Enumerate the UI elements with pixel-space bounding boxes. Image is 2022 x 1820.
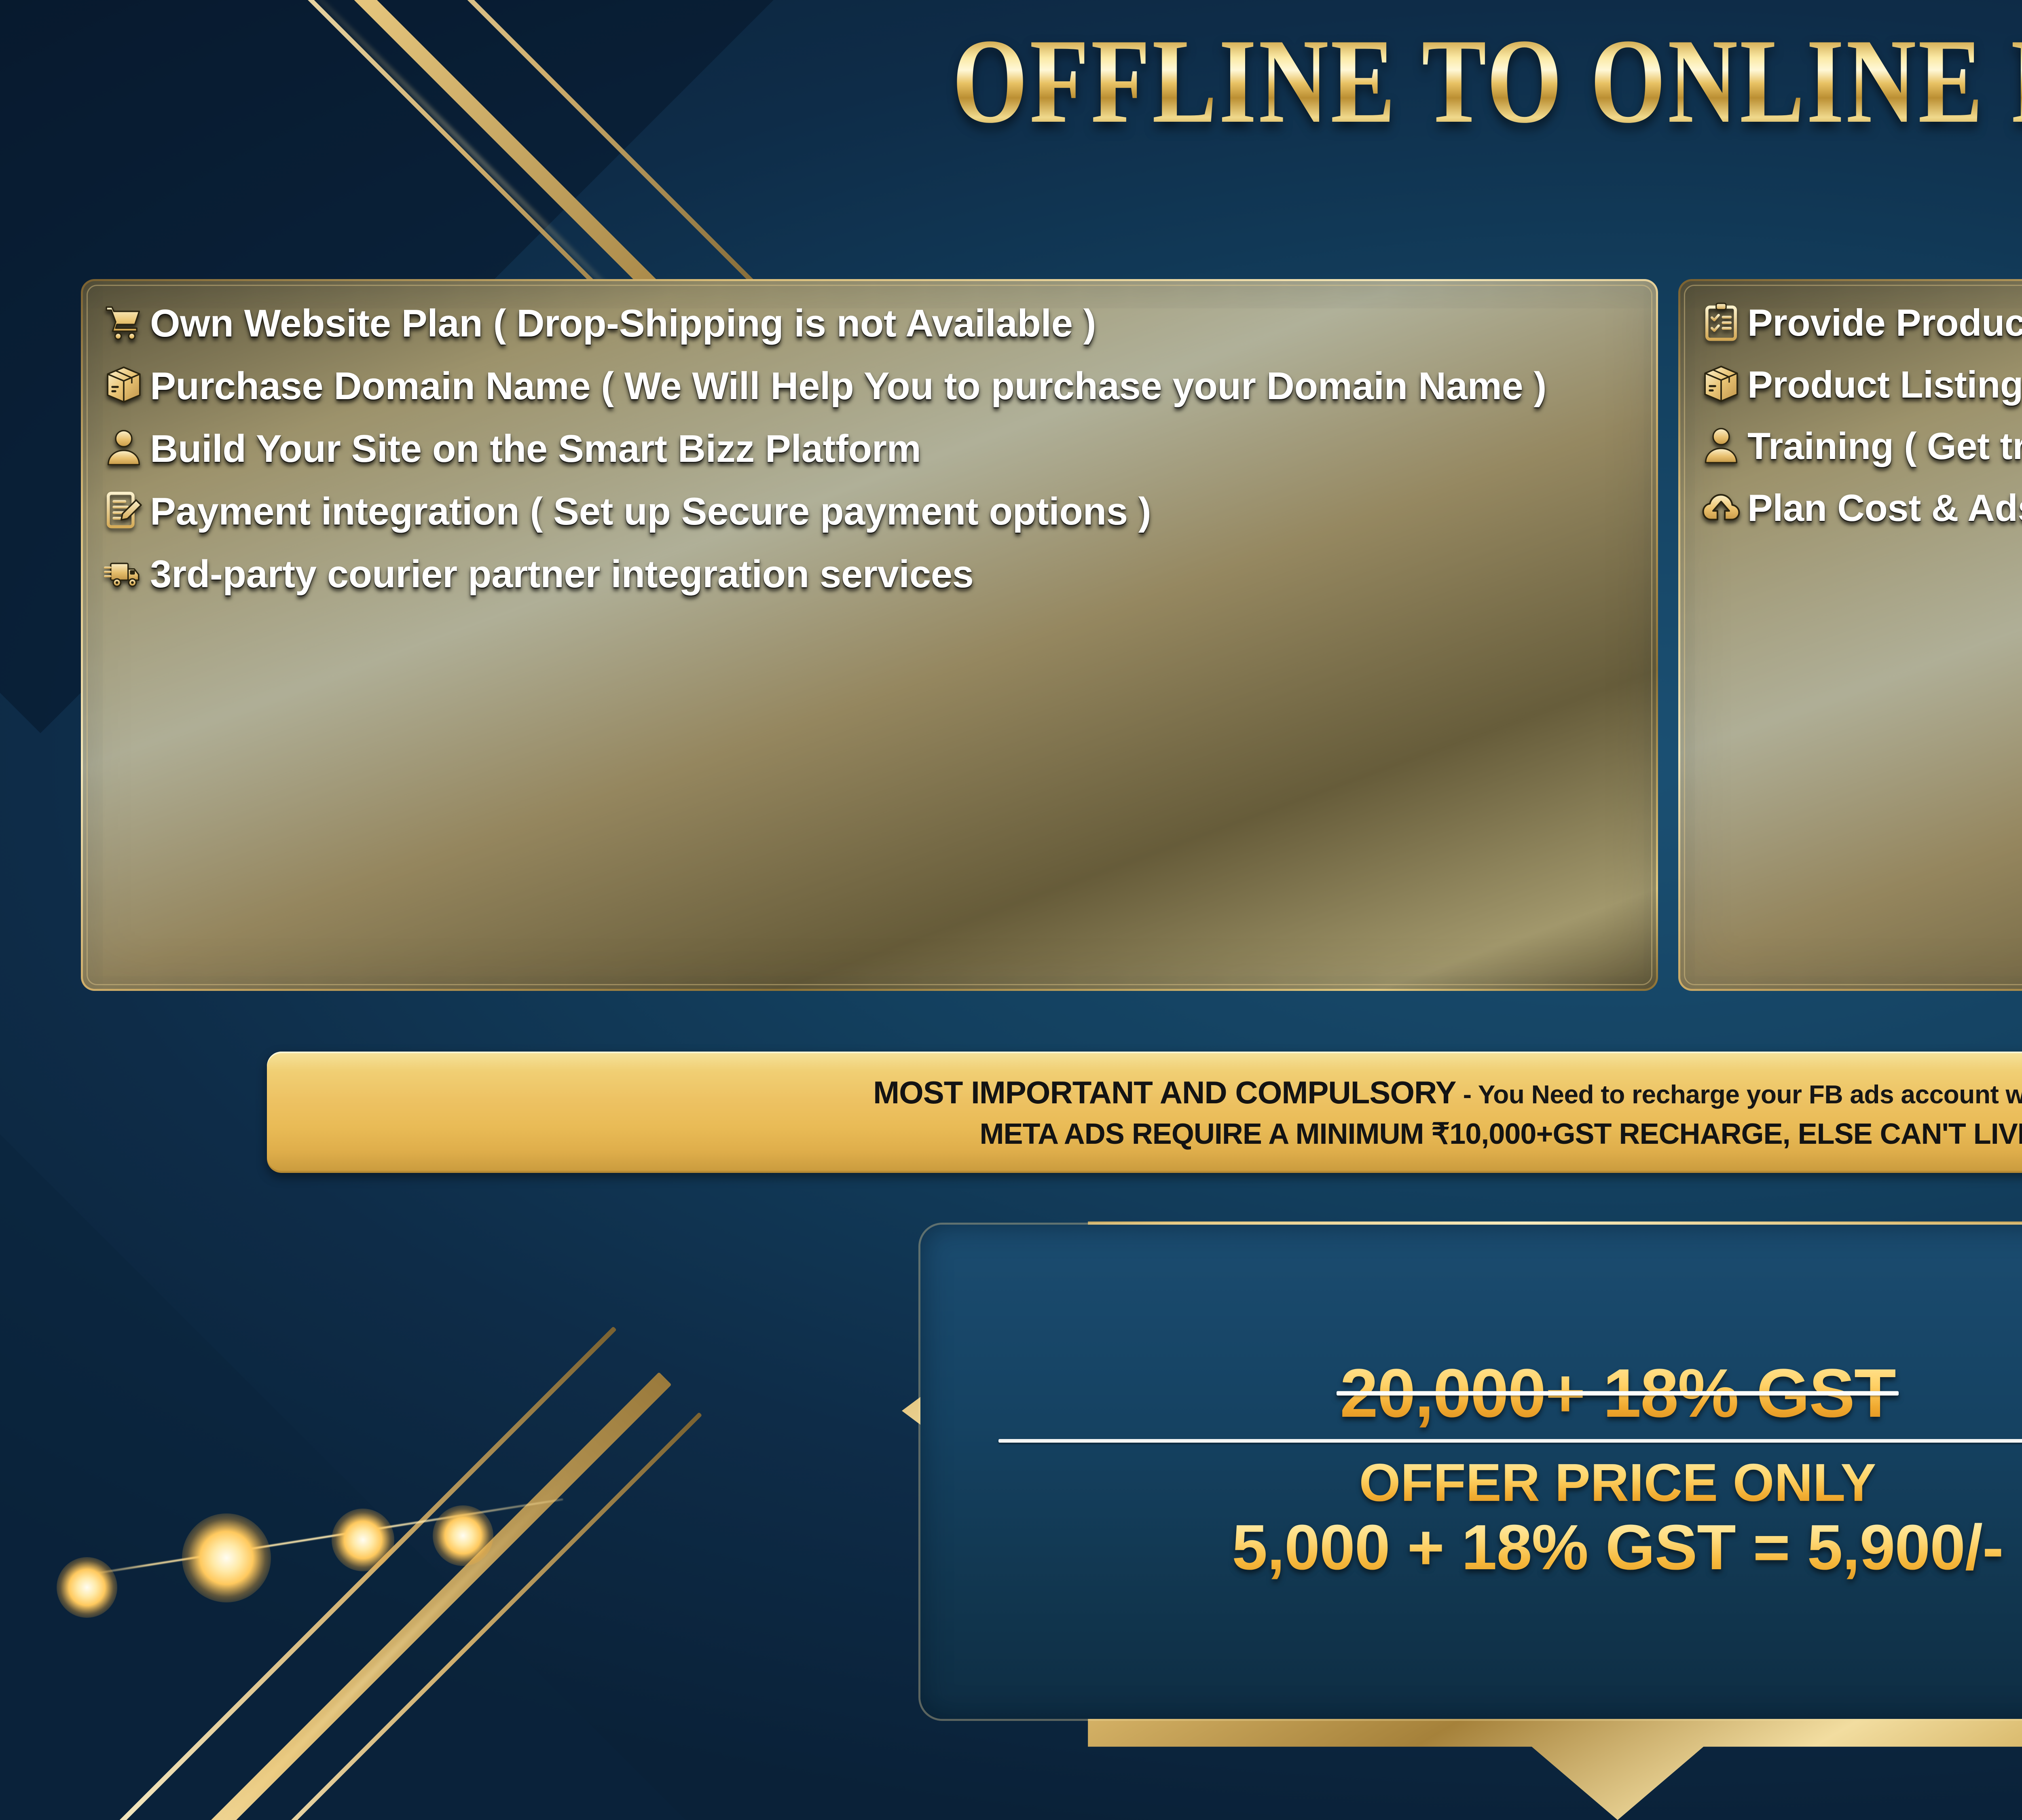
notice-strong-text: MOST IMPORTANT AND COMPULSORY [873,1075,1456,1110]
features-panel-left: Own Website Plan ( Drop-Shipping is not … [81,279,1658,991]
user-person-icon [1695,422,1747,468]
list-item: Provide Product Info ( Client provides p… [1695,299,2022,346]
glow-dot [332,1509,394,1571]
feature-text: Training ( Get training for adding more … [1747,422,2022,470]
feature-text: Build Your Site on the Smart Bizz Platfo… [150,424,921,472]
notice-line-1: MOST IMPORTANT AND COMPULSORY - You Need… [873,1074,2022,1111]
list-item: 3rd-party courier partner integration se… [97,550,1640,598]
cloud-upload-icon [1695,484,1747,529]
old-price: 20,000+ 18% GST [1340,1359,1895,1428]
feature-list-right: Provide Product Info ( Client provides p… [1695,299,2022,531]
package-box-icon [1695,361,1747,406]
list-item: Product Listing ( We will List 20 produc… [1695,361,2022,408]
divider-line [998,1439,2022,1443]
feature-text: Own Website Plan ( Drop-Shipping is not … [150,299,1096,347]
list-item: Training ( Get training for adding more … [1695,422,2022,470]
feature-text: Product Listing ( We will List 20 produc… [1747,361,2022,408]
notice-line-2: META ADS REQUIRE A MINIMUM ₹10,000+GST R… [980,1117,2022,1151]
glow-dot [433,1505,493,1566]
shopping-cart-icon [97,299,150,344]
list-item: Build Your Site on the Smart Bizz Platfo… [97,424,1640,472]
strikethrough-line [1337,1391,1898,1395]
delivery-truck-icon [97,550,150,595]
package-box-icon [97,362,150,407]
user-person-icon [97,424,150,470]
feature-text: Payment integration ( Set up Secure paym… [150,487,1151,535]
offer-price: 5,000 + 18% GST = 5,900/- [1232,1513,2003,1582]
feature-text: Provide Product Info ( Client provides p… [1747,299,2022,346]
list-item: Payment integration ( Set up Secure paym… [97,487,1640,535]
notice-normal-text: - You Need to recharge your FB ads accou… [1456,1080,2022,1109]
features-panel-right: Provide Product Info ( Client provides p… [1678,279,2022,991]
list-item: Purchase Domain Name ( We Will Help You … [97,362,1640,410]
glow-dot [57,1557,117,1618]
page-title: OFFLINE TO ONLINE PLAN [324,20,2022,142]
list-item: Plan Cost & Ads ( 5,000+ tax ( Plan Fee … [1695,484,2022,531]
price-badge: 20,000+ 18% GST OFFER PRICE ONLY 5,000 +… [902,1209,2022,1820]
badge-content: 20,000+ 18% GST OFFER PRICE ONLY 5,000 +… [920,1225,2022,1719]
clipboard-check-icon [1695,299,1747,344]
document-edit-icon [97,487,150,532]
feature-text: Plan Cost & Ads ( 5,000+ tax ( Plan Fee … [1747,484,2022,531]
feature-text: 3rd-party courier partner integration se… [150,550,973,598]
offer-label: OFFER PRICE ONLY [1359,1455,1876,1511]
feature-text: Purchase Domain Name ( We Will Help You … [150,362,1546,410]
notice-banner: MOST IMPORTANT AND COMPULSORY - You Need… [267,1052,2022,1173]
glow-dot [182,1513,271,1602]
feature-list-left: Own Website Plan ( Drop-Shipping is not … [97,299,1640,598]
glow-bead-chain [73,1488,599,1594]
list-item: Own Website Plan ( Drop-Shipping is not … [97,299,1640,347]
